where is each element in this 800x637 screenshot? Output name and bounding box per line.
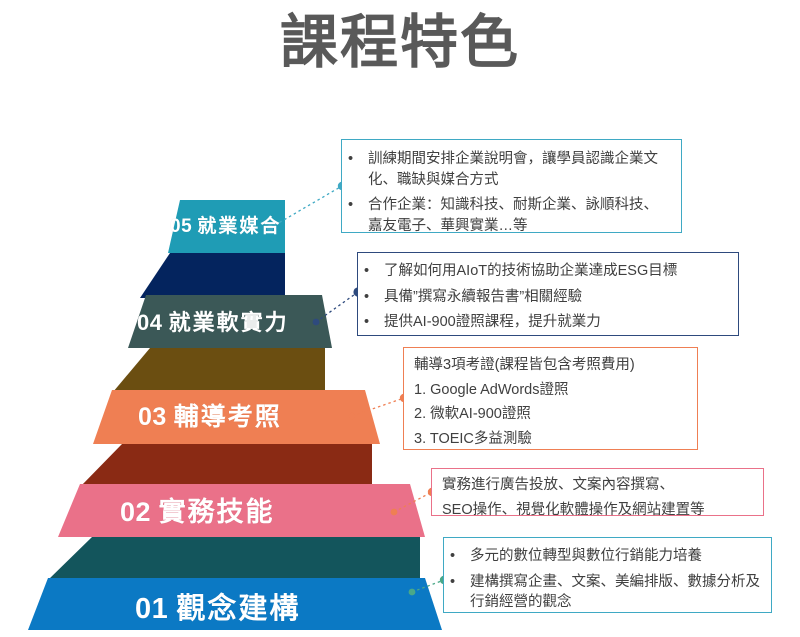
callout-01-list: • 多元的數位轉型與數位行銷能力培養 • 建構撰寫企畫、文案、美編排版、數據分析… bbox=[444, 546, 763, 613]
bullet-icon: • bbox=[364, 287, 369, 308]
pyramid-label-04: 04 就業軟實力 bbox=[137, 305, 289, 337]
pyramid-label-05-number: 05 bbox=[170, 216, 192, 237]
pyramid-label-01-name: 觀念建構 bbox=[176, 593, 300, 625]
bullet-icon: • bbox=[364, 312, 369, 333]
callout-03-item-3: 3. TOEIC多益測驗 bbox=[414, 429, 689, 450]
callout-03-item-1: 1. Google AdWords證照 bbox=[414, 380, 689, 401]
callout-04-item-2: • 具備”撰寫永續報告書”相關經驗 bbox=[358, 287, 730, 308]
pyramid-label-05-name: 就業媒合 bbox=[197, 216, 281, 237]
callout-04-item-2-text: 具備”撰寫永續報告書”相關經驗 bbox=[384, 289, 582, 305]
pyramid-label-01: 01 觀念建構 bbox=[135, 585, 300, 627]
callout-04-item-1: • 了解如何用AIoT的技術協助企業達成ESG目標 bbox=[358, 261, 730, 282]
connector-dot-01-layer bbox=[409, 589, 416, 596]
pyramid-label-01-number: 01 bbox=[135, 593, 168, 625]
callout-05-item-2: • 合作企業：知識科技、耐斯企業、詠順科技、嘉友電子、華興實業…等 bbox=[342, 195, 671, 236]
callout-box-02[interactable]: 實務進行廣告投放、文案內容撰寫、 SEO操作、視覺化軟體操作及網站建置等 bbox=[431, 468, 764, 516]
pyramid-shadow-03 bbox=[80, 444, 372, 487]
connector-dot-02-layer bbox=[391, 509, 398, 516]
callout-03-item-2: 2. 微軟AI-900證照 bbox=[414, 404, 689, 425]
pyramid-label-02-number: 02 bbox=[120, 497, 151, 527]
pyramid-label-02-name: 實務技能 bbox=[159, 497, 275, 527]
callout-04-item-3: • 提供AI-900證照課程，提升就業力 bbox=[358, 312, 730, 333]
bullet-icon: • bbox=[450, 546, 455, 567]
bullet-icon: • bbox=[348, 149, 353, 170]
callout-box-04[interactable]: • 了解如何用AIoT的技術協助企業達成ESG目標 • 具備”撰寫永續報告書”相… bbox=[357, 252, 739, 336]
pyramid-label-03: 03 輔導考照 bbox=[138, 397, 282, 433]
pyramid-label-04-number: 04 bbox=[137, 310, 162, 335]
pyramid-label-04-name: 就業軟實力 bbox=[169, 310, 289, 335]
slide-canvas: 課程特色 bbox=[0, 0, 800, 637]
pyramid-label-02: 02 實務技能 bbox=[120, 490, 275, 529]
pyramid-shadow-02 bbox=[48, 537, 420, 580]
callout-04-list: • 了解如何用AIoT的技術協助企業達成ESG目標 • 具備”撰寫永續報告書”相… bbox=[358, 261, 730, 333]
callout-03-heading: 輔導3項考證(課程皆包含考照費用) bbox=[414, 355, 689, 376]
callout-04-item-3-text: 提供AI-900證照課程，提升就業力 bbox=[384, 314, 601, 330]
connector-dot-04-layer bbox=[313, 319, 320, 326]
pyramid-label-03-number: 03 bbox=[138, 403, 167, 431]
callout-01-item-2: • 建構撰寫企畫、文案、美編排版、數據分析及行銷經營的觀念 bbox=[444, 572, 763, 613]
bullet-icon: • bbox=[450, 572, 455, 593]
bullet-icon: • bbox=[364, 261, 369, 282]
pyramid-label-03-name: 輔導考照 bbox=[174, 403, 282, 431]
callout-01-item-1: • 多元的數位轉型與數位行銷能力培養 bbox=[444, 546, 763, 567]
bullet-icon: • bbox=[348, 195, 353, 216]
pyramid-shadow-05 bbox=[140, 253, 285, 298]
pyramid-label-05: 05 就業媒合 bbox=[170, 211, 281, 238]
callout-01-item-2-text: 建構撰寫企畫、文案、美編排版、數據分析及行銷經營的觀念 bbox=[470, 574, 760, 611]
callout-box-03[interactable]: 輔導3項考證(課程皆包含考照費用) 1. Google AdWords證照 2.… bbox=[403, 347, 698, 450]
callout-box-01[interactable]: • 多元的數位轉型與數位行銷能力培養 • 建構撰寫企畫、文案、美編排版、數據分析… bbox=[443, 537, 772, 613]
callout-05-list: • 訓練期間安排企業說明會，讓學員認識企業文化、職缺與媒合方式 • 合作企業：知… bbox=[342, 149, 671, 236]
callout-05-item-1: • 訓練期間安排企業說明會，讓學員認識企業文化、職缺與媒合方式 bbox=[342, 149, 671, 190]
callout-02-line-1: 實務進行廣告投放、文案內容撰寫、 bbox=[442, 475, 755, 496]
pyramid-shadow-04 bbox=[113, 348, 325, 392]
callout-box-05[interactable]: • 訓練期間安排企業說明會，讓學員認識企業文化、職缺與媒合方式 • 合作企業：知… bbox=[341, 139, 682, 233]
connector-dot-03-layer bbox=[349, 413, 355, 419]
callout-05-item-2-text: 合作企業：知識科技、耐斯企業、詠順科技、嘉友電子、華興實業…等 bbox=[368, 197, 658, 234]
callout-01-item-1-text: 多元的數位轉型與數位行銷能力培養 bbox=[470, 548, 702, 564]
callout-02-line-2: SEO操作、視覺化軟體操作及網站建置等 bbox=[442, 500, 755, 521]
callout-05-item-1-text: 訓練期間安排企業說明會，讓學員認識企業文化、職缺與媒合方式 bbox=[368, 151, 658, 188]
callout-04-item-1-text: 了解如何用AIoT的技術協助企業達成ESG目標 bbox=[384, 263, 677, 279]
